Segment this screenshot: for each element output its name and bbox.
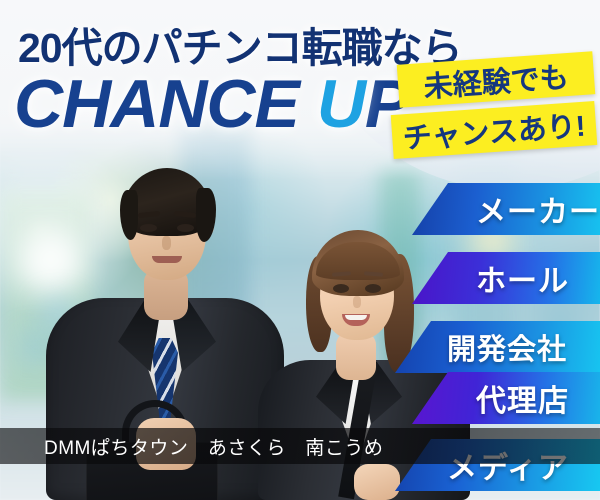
businesswoman-eye-left <box>333 284 349 293</box>
businesswoman-eye-right <box>365 284 381 293</box>
chance-up-banner[interactable]: 20代のパチンコ転職なら CHANCE UP 未経験でも チャンスあり! メーカ… <box>0 0 600 500</box>
category-button-developer[interactable]: 開発会社 <box>395 321 600 373</box>
businesswoman-nose <box>353 296 361 308</box>
chance-up-logo: CHANCE UP <box>14 70 409 138</box>
logo-word-chance: CHANCE <box>14 66 299 142</box>
businessman-eye-left <box>140 224 157 232</box>
businessman-eye-right <box>177 224 194 232</box>
headline-text: 20代のパチンコ転職なら <box>18 14 462 74</box>
businesswoman-teeth <box>345 315 367 320</box>
businessman-nose <box>162 236 171 250</box>
logo-letter-u: U <box>317 70 365 138</box>
businessman-hair-side-right <box>196 188 216 242</box>
businessman-mouth <box>152 256 182 263</box>
businessman-hair-side-left <box>120 190 138 240</box>
caption-bar: DMMぱちタウン あさくら 南こうめ <box>0 428 600 464</box>
businesswoman-hand <box>354 464 400 500</box>
